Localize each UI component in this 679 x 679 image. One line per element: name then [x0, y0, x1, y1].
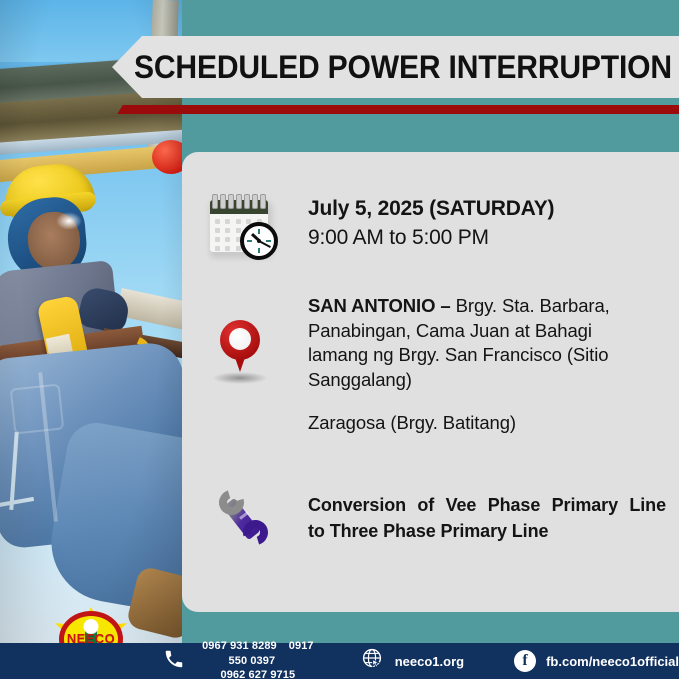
work-description-line1: Conversion of Vee Phase Primary Line — [308, 492, 666, 518]
facebook-label[interactable]: fb.com/neeco1official — [546, 654, 679, 669]
interruption-date: July 5, 2025 (SATURDAY) — [308, 196, 656, 222]
details-card: July 5, 2025 (SATURDAY) 9:00 AM to 5:00 … — [182, 152, 679, 612]
phone-number-3: 0962 627 9715 — [197, 668, 319, 679]
date-row: July 5, 2025 (SATURDAY) 9:00 AM to 5:00 … — [206, 188, 656, 264]
header-accent-rule — [134, 105, 679, 114]
clock-icon — [240, 222, 278, 260]
poster-root: SCHEDULED POWER INTERRUPTION — [0, 0, 679, 679]
wrench-icon — [206, 482, 278, 552]
map-pin-icon — [206, 292, 278, 434]
website-label[interactable]: neeco1.org — [395, 654, 464, 669]
facebook-icon[interactable]: f — [514, 650, 536, 672]
footer-phone-group: 0967 931 82890917 550 0397 0962 627 9715 — [163, 639, 319, 679]
calendar-clock-icon — [206, 188, 278, 264]
footer-website-group[interactable]: neeco1.org — [361, 647, 464, 676]
footer-facebook-group[interactable]: f fb.com/neeco1official — [514, 650, 679, 672]
phone-numbers: 0967 931 82890917 550 0397 0962 627 9715 — [197, 639, 319, 679]
phone-icon — [163, 648, 185, 675]
facebook-glyph: f — [522, 653, 527, 669]
affected-areas-primary: SAN ANTONIO – Brgy. Sta. Barbara, Panabi… — [308, 294, 656, 392]
footer-bar: 0967 931 82890917 550 0397 0962 627 9715… — [0, 643, 679, 679]
work-row: Conversion of Vee Phase Primary Line to … — [206, 482, 656, 552]
globe-cursor-icon — [361, 647, 385, 676]
interruption-time: 9:00 AM to 5:00 PM — [308, 224, 656, 251]
affected-areas-secondary: Zaragosa (Brgy. Batitang) — [308, 412, 656, 434]
location-row: SAN ANTONIO – Brgy. Sta. Barbara, Panabi… — [206, 292, 656, 434]
work-description-line2: to Three Phase Primary Line — [308, 518, 666, 544]
phone-number-1: 0967 931 8289 — [202, 640, 277, 652]
page-title: SCHEDULED POWER INTERRUPTION — [134, 49, 672, 86]
affected-area-name: SAN ANTONIO – — [308, 295, 451, 316]
header-banner: SCHEDULED POWER INTERRUPTION — [112, 36, 679, 98]
